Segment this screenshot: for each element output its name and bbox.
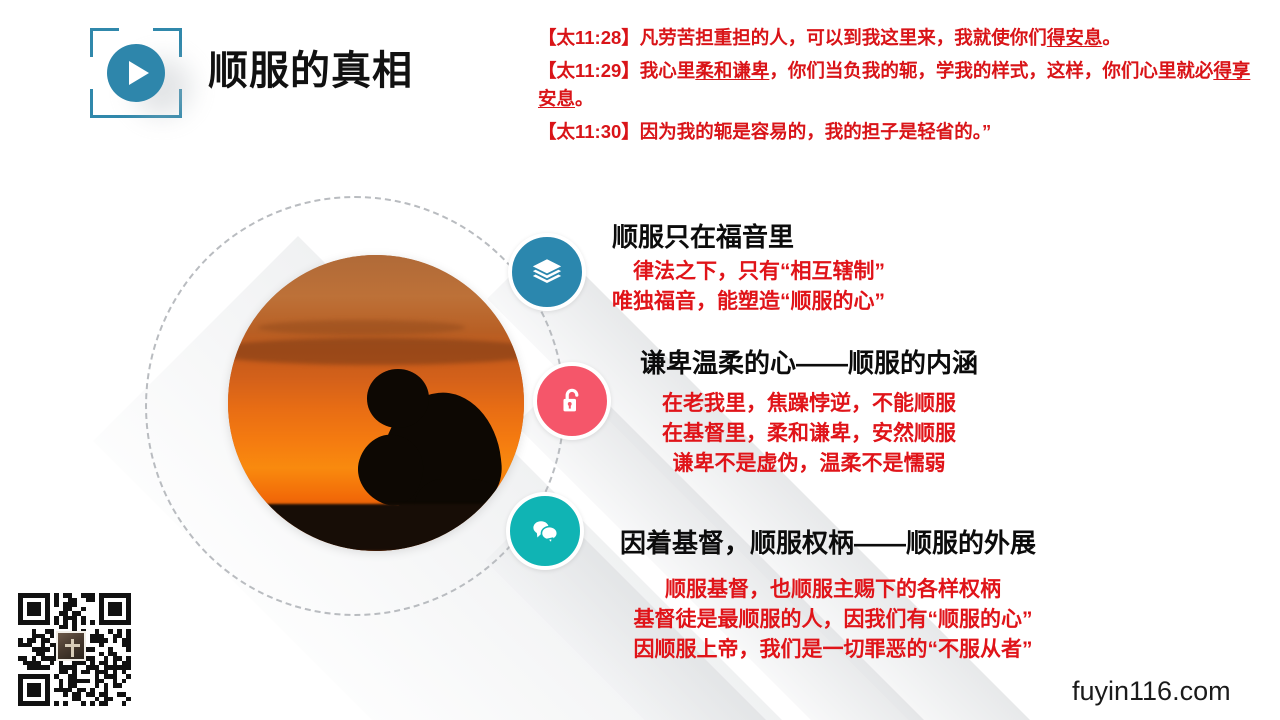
watermark: fuyin116.com bbox=[1072, 676, 1231, 707]
verse-text: 因为我的轭是容易的，我的担子是轻省的。” bbox=[640, 121, 992, 142]
point-3-line-1: 顺服基督，也顺服主赐下的各样权柄 bbox=[630, 575, 1036, 605]
point-1-line-2: 唯独福音，能塑造“顺服的心” bbox=[612, 287, 885, 317]
point-2-line-2: 在基督里，柔和谦卑，安然顺服 bbox=[640, 419, 978, 449]
page-title: 顺服的真相 bbox=[208, 38, 413, 96]
point-3-lines: 顺服基督，也顺服主赐下的各样权柄 基督徒是最顺服的人，因我们有“顺服的心” 因顺… bbox=[620, 575, 1036, 664]
cross-photo-icon bbox=[56, 631, 86, 661]
point-3-title: 因着基督，顺服权柄——顺服的外展 bbox=[620, 528, 1036, 559]
layers-icon[interactable] bbox=[508, 233, 586, 311]
logo bbox=[90, 28, 182, 118]
point-1: 顺服只在福音里 律法之下，只有“相互辖制” 唯独福音，能塑造“顺服的心” bbox=[612, 222, 907, 317]
point-3-line-3: 因顺服上帝，我们是一切罪恶的“不服从者” bbox=[630, 635, 1036, 665]
qr-code[interactable] bbox=[18, 593, 131, 706]
point-2-title: 谦卑温柔的心——顺服的内涵 bbox=[640, 348, 978, 379]
point-1-title: 顺服只在福音里 bbox=[612, 222, 907, 253]
point-2-lines: 在老我里，焦躁悖逆，不能顺服 在基督里，柔和谦卑，安然顺服 谦卑不是虚伪，温柔不… bbox=[640, 389, 978, 478]
verse-text-tail: 。 bbox=[575, 88, 594, 109]
point-2-line-3: 谦卑不是虚伪，温柔不是懦弱 bbox=[640, 449, 978, 479]
unlock-icon[interactable] bbox=[533, 362, 611, 440]
point-1-line-1: 律法之下，只有“相互辖制” bbox=[612, 257, 885, 287]
point-2-line-1: 在老我里，焦躁悖逆，不能顺服 bbox=[640, 389, 978, 419]
scripture-verse-3: 【太11:30】因为我的轭是容易的，我的担子是轻省的。” bbox=[538, 118, 1264, 146]
verse-ref: 【太11:28】 bbox=[538, 27, 640, 48]
verse-text-mid: ，你们当负我的轭，学我的样式，这样，你们心里就必 bbox=[769, 60, 1213, 81]
slide-canvas: 顺服的真相 【太11:28】凡劳苦担重担的人，可以到我这里来，我就使你们得安息。… bbox=[0, 0, 1280, 720]
point-3: 因着基督，顺服权柄——顺服的外展 顺服基督，也顺服主赐下的各样权柄 基督徒是最顺… bbox=[620, 528, 1036, 665]
verse-underline: 得安息 bbox=[1047, 27, 1103, 48]
play-button-icon bbox=[107, 44, 165, 102]
point-2: 谦卑温柔的心——顺服的内涵 在老我里，焦躁悖逆，不能顺服 在基督里，柔和谦卑，安… bbox=[640, 348, 978, 479]
chat-bubbles-icon[interactable] bbox=[506, 492, 584, 570]
verse-underline: 柔和谦卑 bbox=[695, 60, 769, 81]
scripture-verse-1: 【太11:28】凡劳苦担重担的人，可以到我这里来，我就使你们得安息。 bbox=[538, 24, 1264, 52]
verse-text: 凡劳苦担重担的人，可以到我这里来，我就使你们 bbox=[640, 27, 1047, 48]
verse-text-tail: 。 bbox=[1102, 27, 1121, 48]
verse-ref: 【太11:29】 bbox=[538, 60, 640, 81]
praying-silhouette-photo bbox=[228, 255, 524, 551]
scripture-block: 【太11:28】凡劳苦担重担的人，可以到我这里来，我就使你们得安息。 【太11:… bbox=[538, 24, 1264, 151]
verse-text: 我心里 bbox=[640, 60, 696, 81]
scripture-verse-2: 【太11:29】我心里柔和谦卑，你们当负我的轭，学我的样式，这样，你们心里就必得… bbox=[538, 57, 1264, 113]
point-1-lines: 律法之下，只有“相互辖制” 唯独福音，能塑造“顺服的心” bbox=[612, 257, 907, 317]
point-3-line-2: 基督徒是最顺服的人，因我们有“顺服的心” bbox=[630, 605, 1036, 635]
verse-ref: 【太11:30】 bbox=[538, 121, 640, 142]
